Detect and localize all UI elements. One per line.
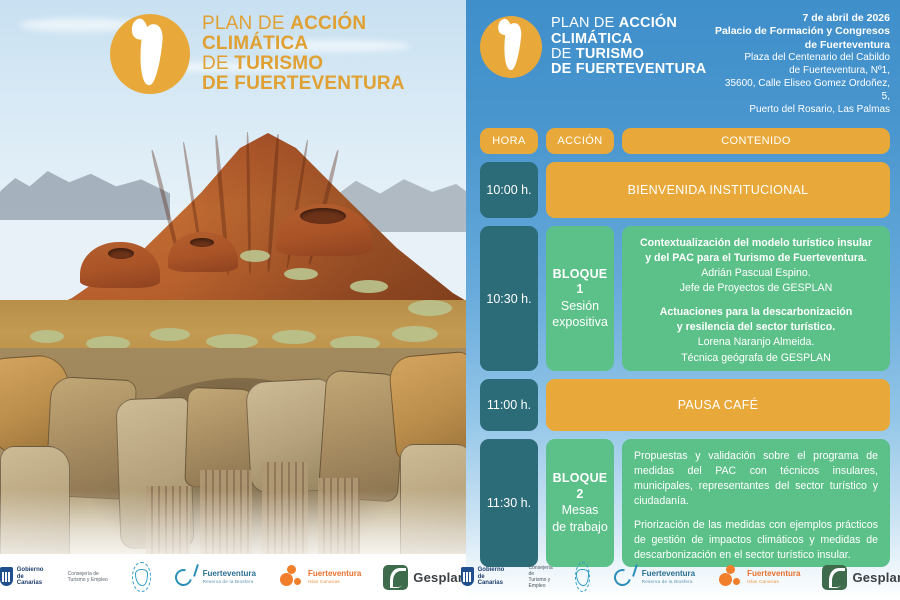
crater-right xyxy=(300,208,346,224)
logo-wordmark: PLAN DE ACCIÓN CLIMÁTICA DE TURISMO DE F… xyxy=(551,16,706,77)
shield-icon xyxy=(461,567,474,586)
gesplan-logo: Gesplan xyxy=(822,565,900,590)
row-content: Propuestas y validación sobre el program… xyxy=(622,439,890,567)
venue-details: 7 de abril de 2026 Palacio de Formación … xyxy=(714,10,890,116)
leaf-icon xyxy=(383,565,408,590)
venue-address-line2: de Fuerteventura, Nº1, xyxy=(714,65,890,78)
fuerteventura-biosfera-logo: Fuerteventura Reserva de la Biosfera xyxy=(612,564,695,590)
talk2-speaker: Lorena Naranjo Almeida. xyxy=(634,335,878,350)
poster: PLAN DE ACCIÓN CLIMÁTICA DE TURISMO DE F… xyxy=(0,0,900,600)
row-time: 11:00 h. xyxy=(480,379,538,431)
gobierno-canarias-logo: Gobierno de Canarias xyxy=(0,567,46,588)
logo-line-3: DE TURISMO xyxy=(551,47,706,62)
crater-left xyxy=(108,248,134,259)
talk1-title-line1: Contextualización del modelo turístico i… xyxy=(634,236,878,251)
block-title: BLOQUE 2 xyxy=(550,471,610,502)
dots-icon xyxy=(717,564,743,590)
column-header-hora: HORA xyxy=(480,128,538,154)
logo-line-3: DE TURISMO xyxy=(202,54,405,74)
table-header-row: HORA ACCIÓN CONTENIDO xyxy=(480,128,890,154)
talk1-role: Jefe de Proyectos de GESPLAN xyxy=(634,281,878,296)
cabildo-seal-icon xyxy=(575,562,590,592)
row-block-label: BLOQUE 1 Sesión expositiva xyxy=(546,226,614,371)
venue-address-line1: Plaza del Centenario del Cabildo xyxy=(714,52,890,65)
row-time: 11:30 h. xyxy=(480,439,538,567)
shrub xyxy=(392,326,438,342)
shield-icon xyxy=(0,567,13,586)
fuerteventura-islas-text: Fuerteventura Islas Canarias xyxy=(747,570,800,584)
dots-icon xyxy=(278,564,304,590)
logo-line-2: CLIMÁTICA xyxy=(551,32,706,47)
logo-line-2: CLIMÁTICA xyxy=(202,34,405,54)
brand-logo-right: PLAN DE ACCIÓN CLIMÁTICA DE TURISMO DE F… xyxy=(480,16,706,78)
block-subtitle-line1: Sesión xyxy=(561,299,599,315)
spacer xyxy=(634,509,878,518)
panel-header: PLAN DE ACCIÓN CLIMÁTICA DE TURISMO DE F… xyxy=(480,10,890,116)
gobierno-canarias-logo: Gobierno de Canarias xyxy=(461,567,507,588)
block-subtitle-line2: expositiva xyxy=(552,315,608,331)
consejeria-label: Consejería de Turismo y Empleo xyxy=(529,565,553,589)
block-subtitle-line2: de trabajo xyxy=(552,520,608,536)
block-subtitle-line1: Mesas xyxy=(562,503,599,519)
shrub xyxy=(284,268,318,280)
footer-logos-left: Gobierno de Canarias Consejería de Turis… xyxy=(0,554,466,600)
fuerteventura-biosfera-logo: Fuerteventura Reserva de la Biosfera xyxy=(173,564,256,590)
cabildo-seal-icon xyxy=(132,562,150,592)
bloque2-paragraph-1: Propuestas y validación sobre el program… xyxy=(634,449,878,509)
shrub xyxy=(206,334,258,349)
logo-line-4: DE FUERTEVENTURA xyxy=(202,74,405,94)
shrub xyxy=(30,330,64,343)
venue-address-line4: Puerto del Rosario, Las Palmas xyxy=(714,104,890,117)
table-row: 11:00 h. PAUSA CAFÉ xyxy=(480,379,890,431)
shrub xyxy=(408,300,452,316)
talk2-title-line1: Actuaciones para la descarbonización xyxy=(634,305,878,320)
logo-island-mark xyxy=(110,14,190,94)
venue-name-line2: de Fuerteventura xyxy=(714,39,890,52)
talk2-role: Técnica geógrafa de GESPLAN xyxy=(634,351,878,366)
table-row: 11:30 h. BLOQUE 2 Mesas de trabajo Propu… xyxy=(480,439,890,567)
column-header-accion: ACCIÓN xyxy=(546,128,614,154)
brand-logo-left: PLAN DE ACCIÓN CLIMÁTICA DE TURISMO DE F… xyxy=(110,14,405,95)
logo-island-mark xyxy=(480,16,542,78)
row-time: 10:30 h. xyxy=(480,226,538,371)
logo-line-4: DE FUERTEVENTURA xyxy=(551,62,706,77)
shrub xyxy=(150,328,190,341)
logo-line-1: PLAN DE ACCIÓN xyxy=(202,14,405,34)
schedule-panel: PLAN DE ACCIÓN CLIMÁTICA DE TURISMO DE F… xyxy=(466,0,900,600)
row-content: BIENVENIDA INSTITUCIONAL xyxy=(546,162,890,218)
shrub xyxy=(240,250,270,262)
spacer xyxy=(634,296,878,305)
snail-icon xyxy=(173,564,199,590)
row-content: PAUSA CAFÉ xyxy=(546,379,890,431)
column-header-contenido: CONTENIDO xyxy=(622,128,890,154)
block-title: BLOQUE 1 xyxy=(550,267,610,298)
gobierno-canarias-text: Gobierno de Canarias xyxy=(17,567,46,588)
table-row: 10:30 h. BLOQUE 1 Sesión expositiva Cont… xyxy=(480,226,890,371)
row-block-label: BLOQUE 2 Mesas de trabajo xyxy=(546,439,614,567)
footer-logos-right: Gobierno de Canarias Consejería de Turis… xyxy=(466,554,900,600)
talk2-title-line2: y resilencia del sector turístico. xyxy=(634,320,878,335)
fuerteventura-biosfera-text: Fuerteventura Reserva de la Biosfera xyxy=(642,570,695,584)
shrub xyxy=(272,330,316,344)
table-row: 10:00 h. BIENVENIDA INSTITUCIONAL xyxy=(480,162,890,218)
venue-address-line3: 35600, Calle Eliseo Gomez Ordoñez, 5, xyxy=(714,78,890,104)
illustration-panel: PLAN DE ACCIÓN CLIMÁTICA DE TURISMO DE F… xyxy=(0,0,466,600)
talk1-title-line2: y del PAC para el Turismo de Fuerteventu… xyxy=(634,251,878,266)
fuerteventura-biosfera-text: Fuerteventura Reserva de la Biosfera xyxy=(203,570,256,584)
snail-icon xyxy=(612,564,638,590)
talk1-speaker: Adrián Pascual Espino. xyxy=(634,266,878,281)
consejeria-label: Consejería de Turismo y Empleo xyxy=(68,571,111,583)
row-content: Contextualización del modelo turístico i… xyxy=(622,226,890,371)
event-date: 7 de abril de 2026 xyxy=(714,12,890,25)
row-time: 10:00 h. xyxy=(480,162,538,218)
gesplan-logo: Gesplan xyxy=(383,565,466,590)
leaf-icon xyxy=(822,565,847,590)
fuerteventura-islas-text: Fuerteventura Islas Canarias xyxy=(308,570,361,584)
schedule-table: HORA ACCIÓN CONTENIDO 10:00 h. BIENVENID… xyxy=(480,128,890,567)
crater-center xyxy=(190,238,214,247)
logo-line-1: PLAN DE ACCIÓN xyxy=(551,16,706,31)
fuerteventura-islas-logo: Fuerteventura Islas Canarias xyxy=(717,564,800,590)
fuerteventura-islas-logo: Fuerteventura Islas Canarias xyxy=(278,564,361,590)
gobierno-canarias-text: Gobierno de Canarias xyxy=(478,567,507,588)
logo-wordmark: PLAN DE ACCIÓN CLIMÁTICA DE TURISMO DE F… xyxy=(202,14,405,95)
shrub xyxy=(350,280,388,293)
venue-name-line1: Palacio de Formación y Congresos xyxy=(714,25,890,38)
